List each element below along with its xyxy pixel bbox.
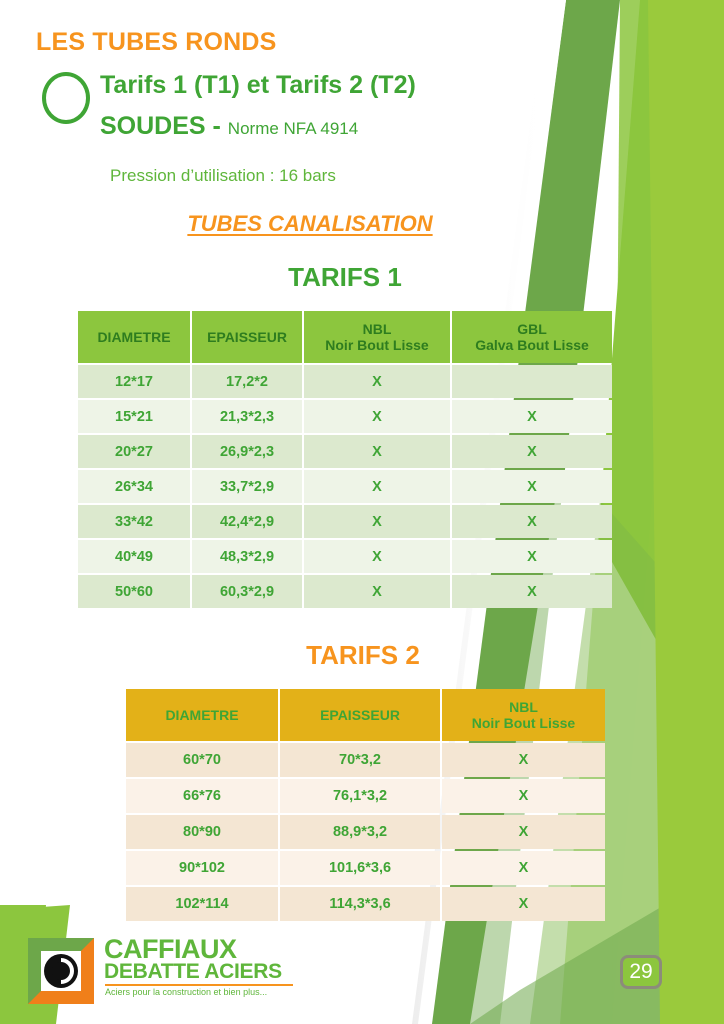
table-row: 12*17 17,2*2 X	[78, 365, 612, 398]
cell-diametre: 40*49	[78, 540, 190, 573]
cell-epaisseur: 33,7*2,9	[192, 470, 302, 503]
table-row: 20*27 26,9*2,3 X X	[78, 435, 612, 468]
column-header-line2: Galva Bout Lisse	[452, 337, 612, 353]
cell-epaisseur: 42,4*2,9	[192, 505, 302, 538]
table-row: 26*34 33,7*2,9 X X	[78, 470, 612, 503]
table-row: 80*90 88,9*3,2 X	[126, 815, 605, 849]
column-header-line1: EPAISSEUR	[192, 329, 302, 345]
cell-epaisseur: 88,9*3,2	[280, 815, 440, 849]
page-kicker: LES TUBES RONDS	[36, 28, 277, 57]
company-logo: CAFFIAUX DEBATTE ACIERS Aciers pour la c…	[28, 936, 298, 1008]
cell-diametre: 15*21	[78, 400, 190, 433]
column-header-line1: GBL	[452, 321, 612, 337]
cell-diametre: 102*114	[126, 887, 278, 921]
cell-diametre: 20*27	[78, 435, 190, 468]
column-header-epaisseur: EPAISSEUR	[192, 311, 302, 363]
cell-nbl: X	[304, 365, 450, 398]
cell-gbl	[452, 365, 612, 398]
cell-epaisseur: 101,6*3,6	[280, 851, 440, 885]
cell-epaisseur: 70*3,2	[280, 743, 440, 777]
column-header-nbl: NBL Noir Bout Lisse	[304, 311, 450, 363]
column-header-line2: Noir Bout Lisse	[442, 715, 605, 731]
pressure-note: Pression d’utilisation : 16 bars	[110, 166, 336, 186]
table-header-row: DIAMETRE EPAISSEUR NBL Noir Bout Lisse G…	[78, 311, 612, 363]
cell-epaisseur: 76,1*3,2	[280, 779, 440, 813]
cell-epaisseur: 48,3*2,9	[192, 540, 302, 573]
column-header-line1: DIAMETRE	[78, 329, 190, 345]
column-header-diametre: DIAMETRE	[126, 689, 278, 741]
cell-gbl: X	[452, 470, 612, 503]
table-row: 40*49 48,3*2,9 X X	[78, 540, 612, 573]
cell-gbl: X	[452, 435, 612, 468]
cell-diametre: 60*70	[126, 743, 278, 777]
section-title: TUBES CANALISATION	[0, 211, 620, 237]
column-header-line1: EPAISSEUR	[280, 707, 440, 723]
tarifs2-body: 60*70 70*3,2 X 66*76 76,1*3,2 X 80*90 88…	[126, 743, 605, 921]
cell-gbl: X	[452, 505, 612, 538]
column-header-diametre: DIAMETRE	[78, 311, 190, 363]
column-header-line2: Noir Bout Lisse	[304, 337, 450, 353]
column-header-gbl: GBL Galva Bout Lisse	[452, 311, 612, 363]
cell-gbl: X	[452, 540, 612, 573]
cell-epaisseur: 60,3*2,9	[192, 575, 302, 608]
column-header-line1: DIAMETRE	[126, 707, 278, 723]
slide-page: LES TUBES RONDS Tarifs 1 (T1) et Tarifs …	[0, 0, 724, 1024]
cell-diametre: 26*34	[78, 470, 190, 503]
cell-diametre: 90*102	[126, 851, 278, 885]
logo-divider	[105, 984, 293, 986]
cell-nbl: X	[304, 400, 450, 433]
cell-epaisseur: 17,2*2	[192, 365, 302, 398]
cell-gbl: X	[452, 575, 612, 608]
cell-epaisseur: 26,9*2,3	[192, 435, 302, 468]
logo-company-subname: DEBATTE ACIERS	[104, 960, 282, 984]
cell-nbl: X	[304, 505, 450, 538]
cell-nbl: X	[304, 575, 450, 608]
cell-epaisseur: 21,3*2,3	[192, 400, 302, 433]
page-subtitle: SOUDES - Norme NFA 4914	[100, 112, 358, 141]
table-header-row: DIAMETRE EPAISSEUR NBL Noir Bout Lisse	[126, 689, 605, 741]
cell-nbl: X	[442, 779, 605, 813]
column-header-line1: NBL	[304, 321, 450, 337]
column-header-line1: NBL	[442, 699, 605, 715]
column-header-epaisseur: EPAISSEUR	[280, 689, 440, 741]
caffiaux-debatte-monogram-icon	[28, 938, 94, 1004]
cell-diametre: 66*76	[126, 779, 278, 813]
table-row: 102*114 114,3*3,6 X	[126, 887, 605, 921]
table-row: 33*42 42,4*2,9 X X	[78, 505, 612, 538]
cell-nbl: X	[442, 851, 605, 885]
page-number-badge: 29	[620, 955, 662, 989]
cell-nbl: X	[442, 815, 605, 849]
cell-diametre: 80*90	[126, 815, 278, 849]
cell-epaisseur: 114,3*3,6	[280, 887, 440, 921]
table-row: 15*21 21,3*2,3 X X	[78, 400, 612, 433]
cell-gbl: X	[452, 400, 612, 433]
table-row: 66*76 76,1*3,2 X	[126, 779, 605, 813]
table1-title: TARIFS 1	[0, 262, 690, 293]
tarifs1-body: 12*17 17,2*2 X 15*21 21,3*2,3 X X 20*27 …	[78, 365, 612, 608]
circle-outline-icon	[42, 72, 90, 124]
page-subtitle-norme: Norme NFA 4914	[228, 119, 358, 138]
cell-diametre: 33*42	[78, 505, 190, 538]
cell-diametre: 12*17	[78, 365, 190, 398]
column-header-nbl: NBL Noir Bout Lisse	[442, 689, 605, 741]
table-row: 60*70 70*3,2 X	[126, 743, 605, 777]
tarifs1-table: DIAMETRE EPAISSEUR NBL Noir Bout Lisse G…	[76, 309, 614, 610]
cell-nbl: X	[442, 743, 605, 777]
cell-nbl: X	[304, 435, 450, 468]
table-row: 90*102 101,6*3,6 X	[126, 851, 605, 885]
tarifs2-table: DIAMETRE EPAISSEUR NBL Noir Bout Lisse 6…	[124, 687, 607, 923]
cell-nbl: X	[304, 470, 450, 503]
cell-diametre: 50*60	[78, 575, 190, 608]
page-title: Tarifs 1 (T1) et Tarifs 2 (T2)	[100, 71, 416, 100]
cell-nbl: X	[442, 887, 605, 921]
table2-title: TARIFS 2	[0, 640, 724, 671]
table-row: 50*60 60,3*2,9 X X	[78, 575, 612, 608]
cell-nbl: X	[304, 540, 450, 573]
logo-tagline: Aciers pour la construction et bien plus…	[105, 987, 267, 997]
page-subtitle-strong: SOUDES -	[100, 112, 228, 140]
